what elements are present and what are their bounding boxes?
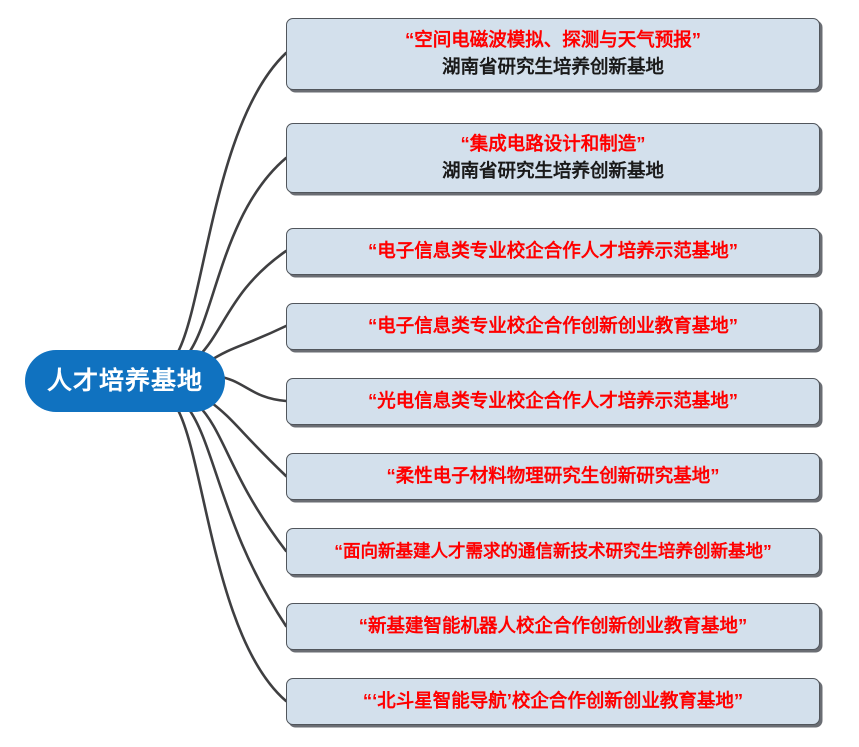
center-node-label: 人才培养基地 — [47, 369, 203, 394]
connector-to-node-5 — [216, 376, 286, 401]
node-7-line-1: “面向新基建人才需求的通信新技术研究生培养创新基地” — [334, 539, 772, 564]
connector-to-node-2 — [188, 158, 286, 354]
node-box-7[interactable]: “面向新基建人才需求的通信新技术研究生培养创新基地” — [286, 528, 820, 575]
node-8-line-1: “新基建智能机器人校企合作创新创业教育基地” — [359, 613, 748, 640]
node-5-line-1: “光电信息类专业校企合作人才培养示范基地” — [368, 388, 738, 415]
connector-to-node-3 — [198, 251, 286, 357]
node-4-line-1: “电子信息类专业校企合作创新创业教育基地” — [368, 313, 738, 340]
mindmap-diagram: 人才培养基地 “空间电磁波模拟、探测与天气预报” 湖南省研究生培养创新基地 “集… — [0, 0, 859, 747]
node-box-6[interactable]: “柔性电子材料物理研究生创新研究基地” — [286, 453, 820, 500]
connector-to-node-9 — [178, 410, 286, 701]
node-1-line-2: 湖南省研究生培养创新基地 — [442, 54, 664, 81]
node-2-line-1: “集成电路设计和制造” — [460, 131, 645, 158]
node-box-8[interactable]: “新基建智能机器人校企合作创新创业教育基地” — [286, 603, 820, 650]
connector-to-node-6 — [208, 400, 286, 476]
node-9-line-1: “‘北斗星智能导航’校企合作创新创业教育基地” — [363, 688, 743, 715]
node-box-2[interactable]: “集成电路设计和制造” 湖南省研究生培养创新基地 — [286, 123, 820, 193]
node-1-line-1: “空间电磁波模拟、探测与天气预报” — [405, 27, 701, 54]
node-2-line-2: 湖南省研究生培养创新基地 — [442, 158, 664, 185]
node-box-3[interactable]: “电子信息类专业校企合作人才培养示范基地” — [286, 228, 820, 275]
node-box-5[interactable]: “光电信息类专业校企合作人才培养示范基地” — [286, 378, 820, 425]
connector-to-node-1 — [178, 53, 286, 352]
node-box-1[interactable]: “空间电磁波模拟、探测与天气预报” 湖南省研究生培养创新基地 — [286, 18, 820, 90]
connector-to-node-4 — [208, 326, 286, 362]
connector-to-node-8 — [188, 408, 286, 626]
node-3-line-1: “电子信息类专业校企合作人才培养示范基地” — [368, 238, 738, 265]
node-6-line-1: “柔性电子材料物理研究生创新研究基地” — [386, 463, 719, 490]
node-box-4[interactable]: “电子信息类专业校企合作创新创业教育基地” — [286, 303, 820, 350]
node-box-9[interactable]: “‘北斗星智能导航’校企合作创新创业教育基地” — [286, 678, 820, 725]
center-node[interactable]: 人才培养基地 — [25, 350, 225, 412]
connector-to-node-7 — [198, 405, 286, 551]
